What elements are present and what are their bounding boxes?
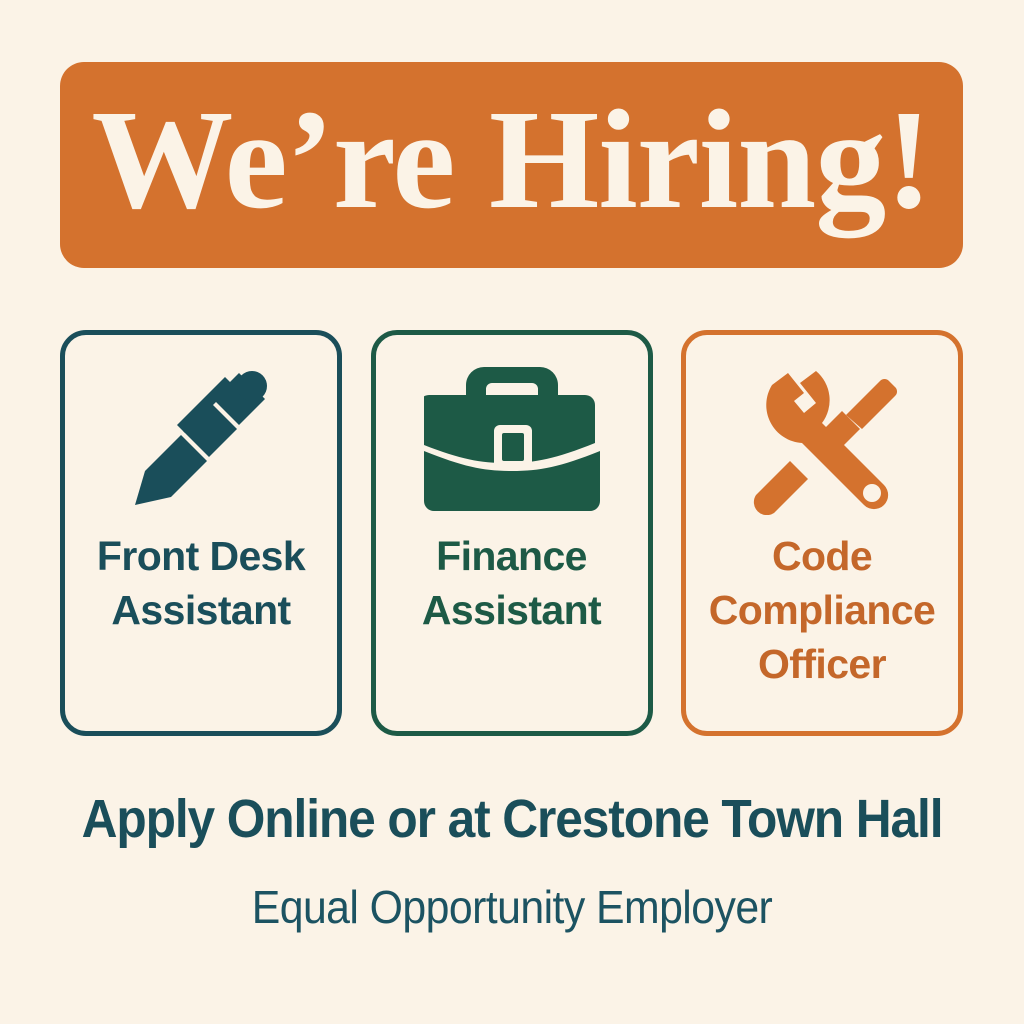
briefcase-icon (376, 335, 648, 525)
job-card-list: Front DeskAssistant (60, 330, 963, 736)
job-title-line-3: Officer (758, 641, 886, 687)
job-title-line-1: Finance (436, 533, 587, 579)
job-title-line-2: Assistant (111, 587, 290, 633)
job-card-finance-assistant[interactable]: FinanceAssistant (371, 330, 653, 736)
job-card-title: FinanceAssistant (414, 529, 609, 637)
wrench-screwdriver-icon (686, 335, 958, 525)
job-title-line-1: Code (772, 533, 872, 579)
job-title-line-2: Compliance (709, 587, 935, 633)
eeo-statement: Equal Opportunity Employer (36, 882, 988, 933)
job-card-front-desk-assistant[interactable]: Front DeskAssistant (60, 330, 342, 736)
banner-title: We’re Hiring! (91, 88, 931, 230)
job-card-title: Front DeskAssistant (89, 529, 313, 637)
pen-icon (65, 335, 337, 525)
poster-footer: Apply Online or at Crestone Town Hall Eq… (0, 790, 1024, 933)
job-card-code-compliance-officer[interactable]: CodeComplianceOfficer (681, 330, 963, 736)
job-card-title: CodeComplianceOfficer (701, 529, 943, 691)
hiring-banner: We’re Hiring! (60, 62, 963, 268)
hiring-poster: We’re Hiring! (0, 0, 1024, 1024)
job-title-line-2: Assistant (422, 587, 601, 633)
job-title-line-1: Front Desk (97, 533, 305, 579)
apply-instructions: Apply Online or at Crestone Town Hall (41, 790, 983, 848)
